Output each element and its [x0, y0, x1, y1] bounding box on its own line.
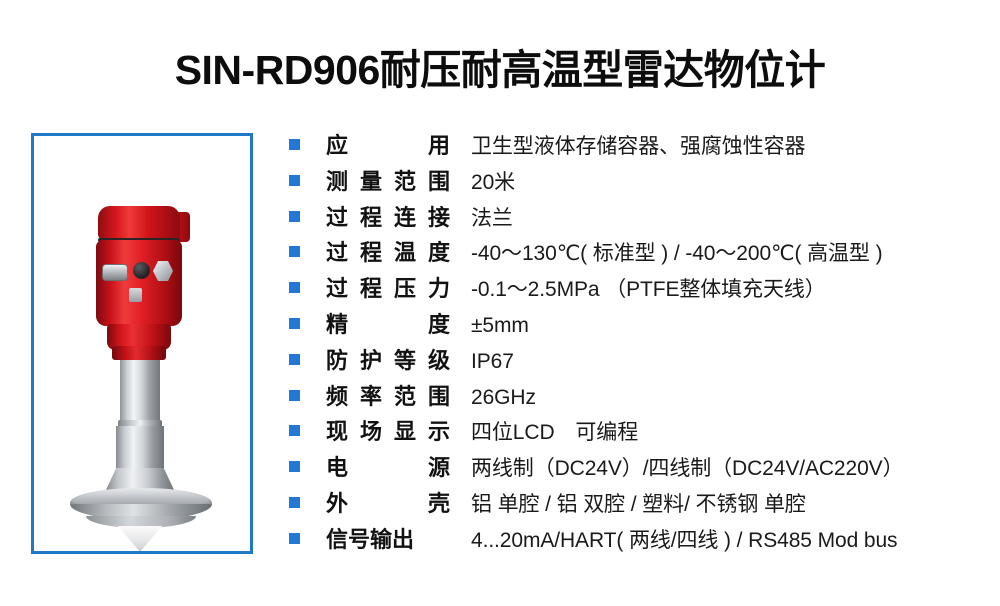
bullet-square-icon [289, 318, 300, 329]
product-image-panel [31, 133, 253, 554]
spec-row-power-supply: 电 源 两线制（DC24V）/四线制（DC24V/AC220V） [289, 450, 989, 486]
spec-row-frequency-range: 频率范围 26GHz [289, 379, 989, 415]
bullet-square-icon [289, 425, 300, 436]
spec-value: 铝 单腔 / 铝 双腔 / 塑料/ 不锈钢 单腔 [471, 488, 806, 518]
spec-label: 频率范围 [326, 379, 450, 411]
cable-gland-icon [102, 264, 128, 281]
spec-value: 4...20mA/HART( 两线/四线 ) / RS485 Mod bus [471, 524, 897, 554]
ptfe-cone-antenna-icon [118, 526, 162, 552]
spec-value: 20米 [471, 166, 515, 196]
bullet-square-icon [289, 282, 300, 293]
bullet-square-icon [289, 211, 300, 222]
spec-label: 信号输出 [326, 522, 450, 554]
spec-row-application: 应 用 卫生型液体存储容器、强腐蚀性容器 [289, 128, 989, 164]
spec-value: 26GHz [471, 386, 536, 410]
spec-row-process-connection: 过程连接 法兰 [289, 200, 989, 236]
steel-neck-upper-icon [120, 360, 160, 422]
spec-row-accuracy: 精 度 ±5mm [289, 307, 989, 343]
spec-label: 精 度 [326, 307, 450, 339]
spec-value: 卫生型液体存储容器、强腐蚀性容器 [471, 130, 805, 160]
bullet-square-icon [289, 175, 300, 186]
bullet-square-icon [289, 533, 300, 544]
bullet-square-icon [289, 461, 300, 472]
spec-label: 电 源 [326, 450, 450, 482]
housing-shoulder-lower-icon [112, 346, 166, 360]
steel-neck-lower-icon [116, 426, 164, 470]
spec-row-measuring-range: 测量范围 20米 [289, 164, 989, 200]
spec-value: IP67 [471, 350, 514, 374]
spec-label: 测量范围 [326, 164, 450, 196]
red-housing-icon [96, 240, 182, 326]
spec-label: 应 用 [326, 128, 450, 160]
dark-port-icon [133, 262, 150, 279]
bullet-square-icon [289, 139, 300, 150]
bullet-square-icon [289, 246, 300, 257]
spec-label: 现场显示 [326, 414, 450, 446]
housing-cap-icon [98, 206, 180, 240]
spec-row-enclosure: 外 壳 铝 单腔 / 铝 双腔 / 塑料/ 不锈钢 单腔 [289, 486, 989, 522]
spec-row-protection-class: 防护等级 IP67 [289, 343, 989, 379]
page-title: SIN-RD906耐压耐高温型雷达物位计 [0, 36, 1000, 96]
spec-row-local-display: 现场显示 四位LCD 可编程 [289, 414, 989, 450]
spec-value: -0.1～2.5MPa （PTFE整体填充天线） [471, 273, 826, 303]
spec-row-signal-output: 信号输出 4...20mA/HART( 两线/四线 ) / RS485 Mod … [289, 522, 989, 558]
specification-list: 应 用 卫生型液体存储容器、强腐蚀性容器 测量范围 20米 过程连接 法兰 过程… [289, 128, 989, 558]
nameplate-icon [129, 288, 142, 302]
spec-row-process-pressure: 过程压力 -0.1～2.5MPa （PTFE整体填充天线） [289, 271, 989, 307]
spec-label: 过程温度 [326, 235, 450, 267]
spec-row-process-temperature: 过程温度 -40～130℃( 标准型 ) / -40～200℃( 高温型 ) [289, 235, 989, 271]
bullet-square-icon [289, 354, 300, 365]
spec-value: 四位LCD 可编程 [471, 416, 638, 446]
spec-label: 过程连接 [326, 200, 450, 232]
spec-value: -40～130℃( 标准型 ) / -40～200℃( 高温型 ) [471, 237, 882, 267]
spec-label: 外 壳 [326, 486, 450, 518]
product-photo [34, 136, 250, 551]
spec-label: 过程压力 [326, 271, 450, 303]
bullet-square-icon [289, 497, 300, 508]
spec-value: 两线制（DC24V）/四线制（DC24V/AC220V） [471, 452, 903, 482]
spec-value: 法兰 [471, 202, 513, 232]
spec-value: ±5mm [471, 314, 529, 338]
spec-label: 防护等级 [326, 343, 450, 375]
bullet-square-icon [289, 390, 300, 401]
